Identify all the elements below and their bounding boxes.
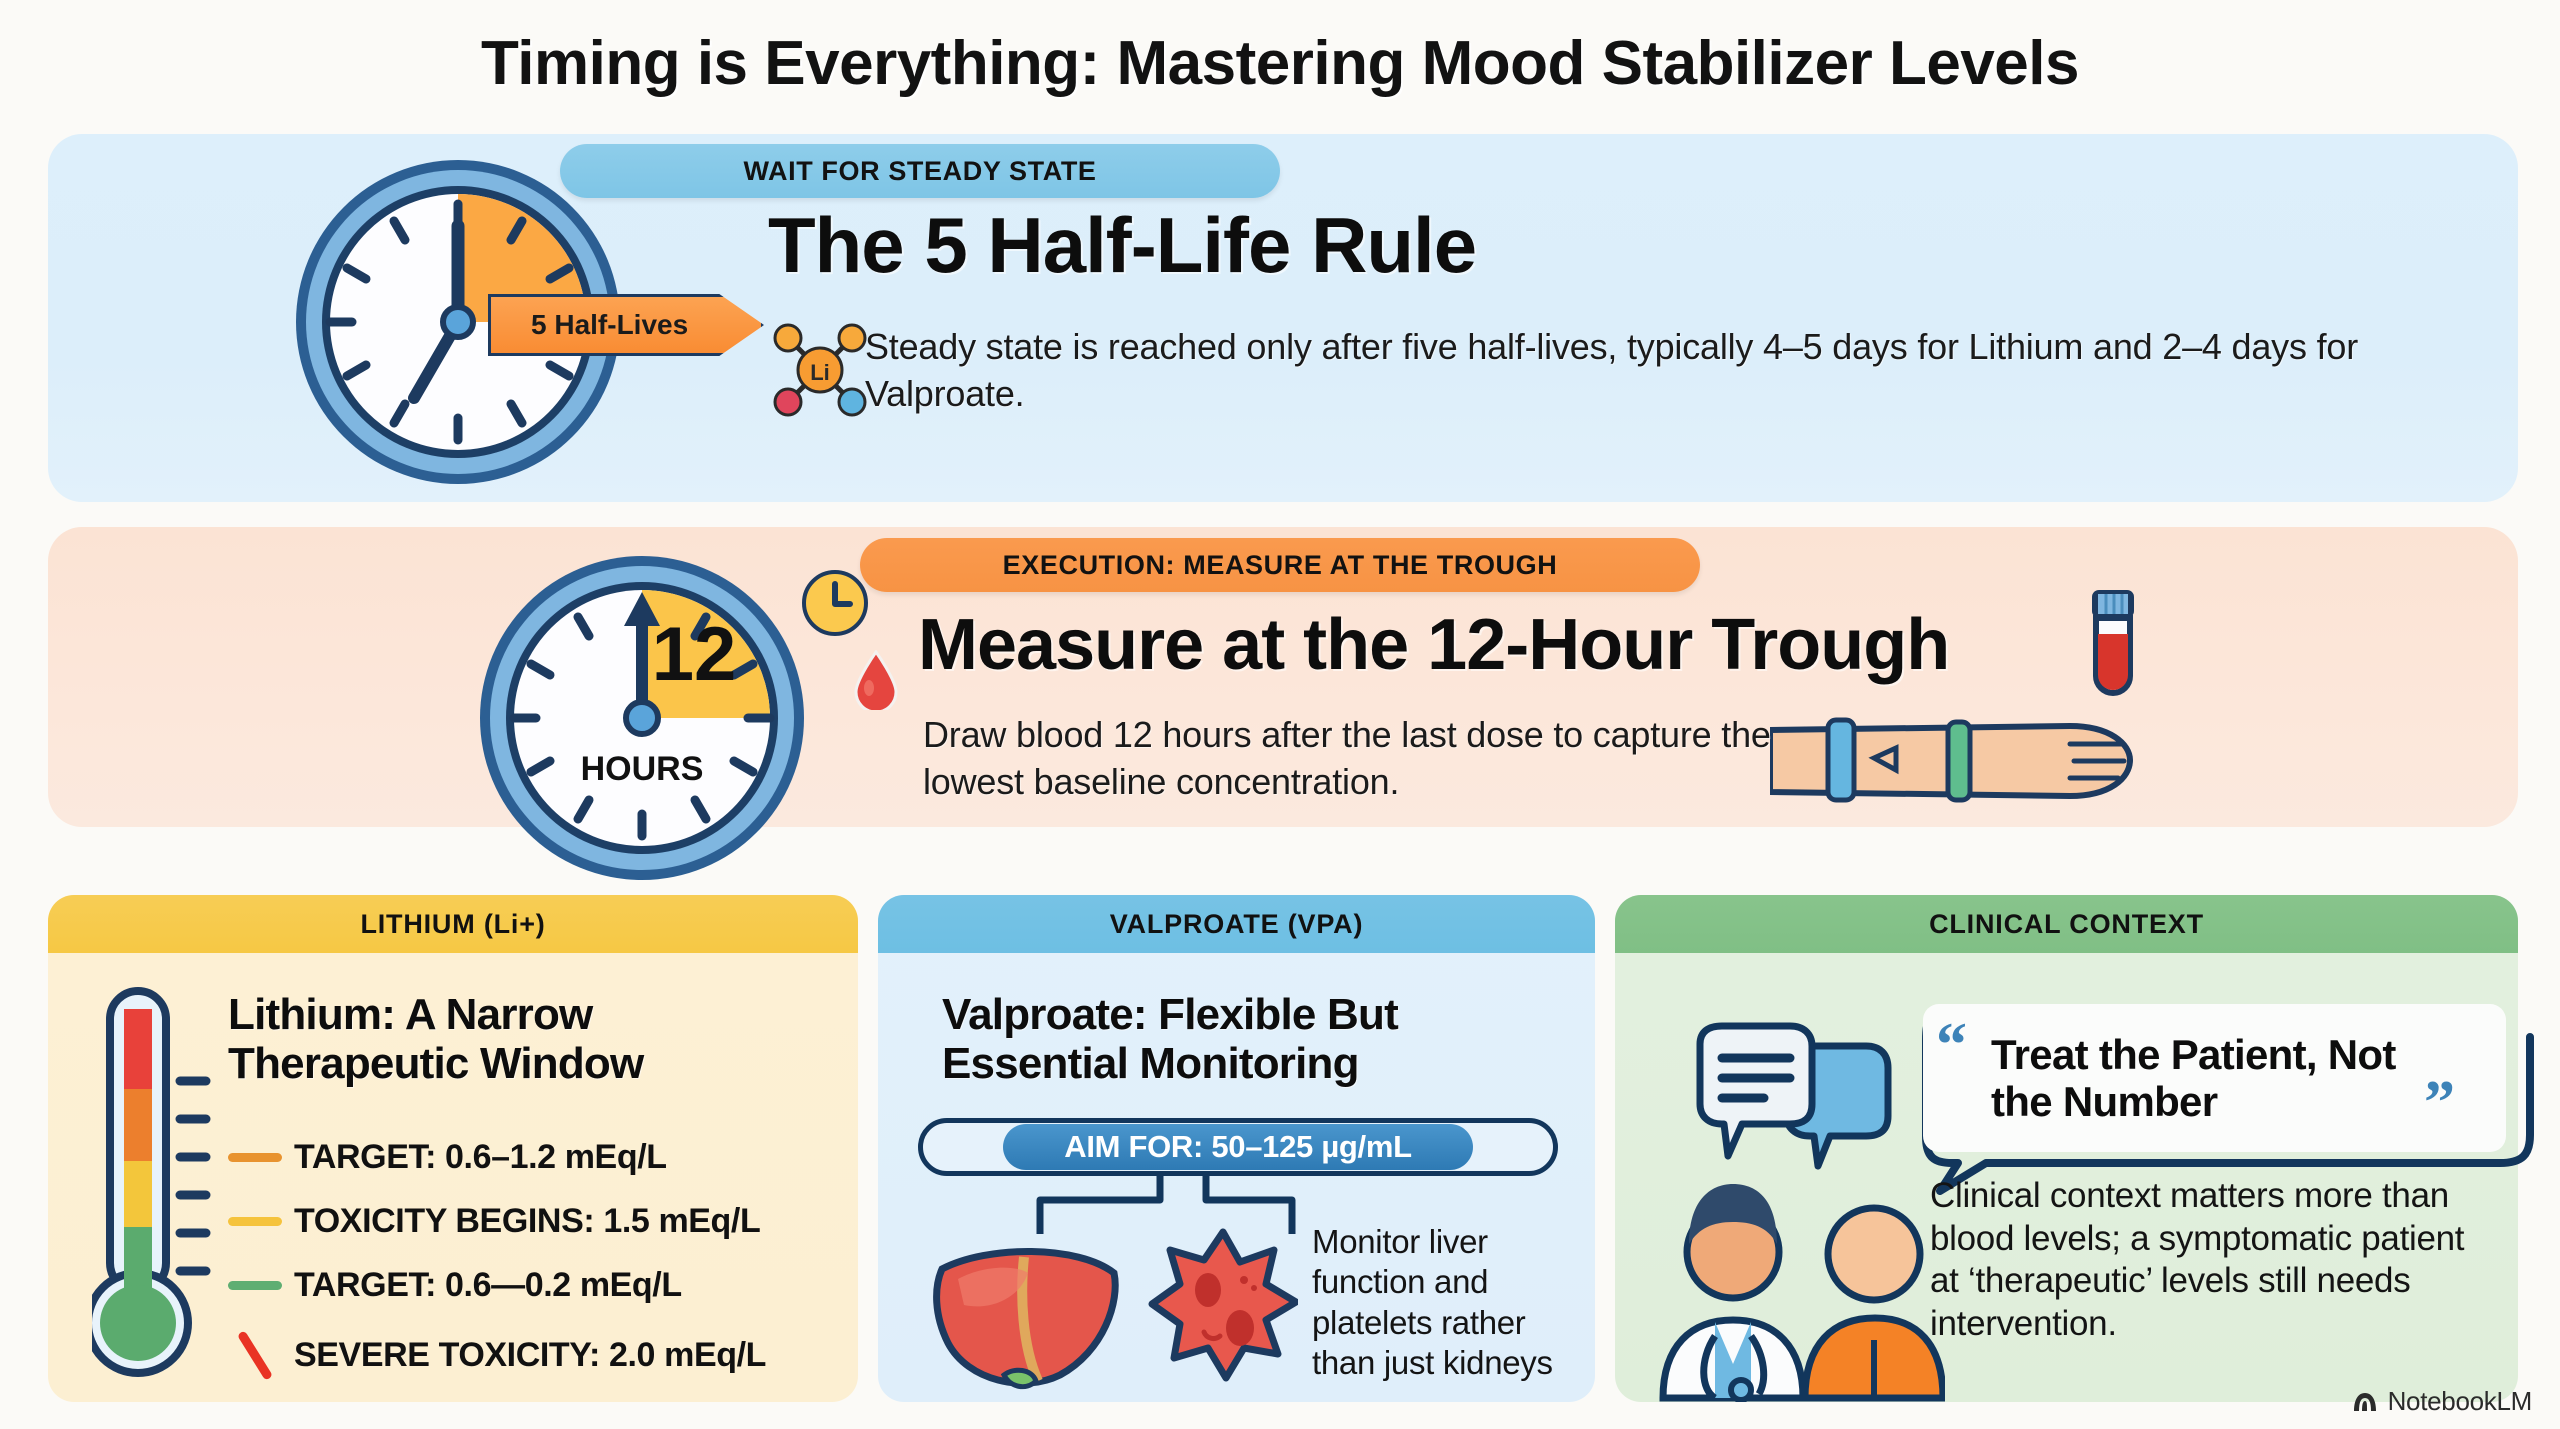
level-dash-toxicity-begins (228, 1217, 282, 1226)
list-item: TARGET: 0.6–1.2 mEq/L (228, 1125, 848, 1189)
blood-drop-icon (852, 650, 900, 710)
blood-tube-icon (2080, 588, 2146, 696)
list-item: SEVERE TOXICITY: 2.0 mEq/L (228, 1323, 848, 1387)
quote-close-icon: ” (2424, 1068, 2455, 1139)
list-item: TARGET: 0.6—0.2 mEq/L (228, 1253, 848, 1317)
notebooklm-logo-icon (2352, 1390, 2378, 1414)
list-item: TOXICITY BEGINS: 1.5 mEq/L (228, 1189, 848, 1253)
clock-unit: HOURS (581, 750, 704, 788)
heading-lithium-narrow-window: Lithium: A Narrow Therapeutic Window (228, 990, 828, 1089)
lithium-target-label: TARGET: 0.6–1.2 mEq/L (294, 1138, 667, 1177)
quote-open-icon: “ (1936, 1010, 1967, 1081)
lithium-level-list: TARGET: 0.6–1.2 mEq/L TOXICITY BEGINS: 1… (228, 1125, 848, 1387)
card-lithium-header: LITHIUM (Li+) (48, 895, 858, 953)
doctor-and-patient-icon (1655, 1140, 1945, 1402)
five-half-lives-arrow-label: 5 Half-Lives (488, 294, 764, 356)
clinical-context-note: Clinical context matters more than blood… (1930, 1175, 2490, 1346)
svg-text:Li: Li (810, 360, 830, 385)
small-clock-badge-icon (800, 568, 870, 638)
valproate-monitoring-note: Monitor liver function and platelets rat… (1312, 1222, 1588, 1383)
heading-measure-12-hour-trough: Measure at the 12-Hour Trough (918, 608, 1949, 684)
card-valproate-header: VALPROATE (VPA) (878, 895, 1595, 953)
heading-valproate-monitoring: Valproate: Flexible But Essential Monito… (942, 990, 1582, 1089)
lithium-severe-toxicity-label: SEVERE TOXICITY: 2.0 mEq/L (294, 1336, 766, 1375)
infographic-root: Timing is Everything: Mastering Mood Sta… (0, 0, 2560, 1429)
lithium-target-low-label: TARGET: 0.6—0.2 mEq/L (294, 1266, 682, 1305)
lithium-molecule-icon: Li (768, 318, 872, 422)
valproate-target-range-value: AIM FOR: 50–125 µg/mL (1003, 1124, 1473, 1170)
level-dash-severe-toxicity (237, 1330, 273, 1381)
badge-execution-measure-at-trough: EXECUTION: MEASURE AT THE TROUGH (860, 538, 1700, 592)
page-title: Timing is Everything: Mastering Mood Sta… (0, 28, 2560, 99)
thermometer-icon (92, 985, 242, 1385)
badge-wait-for-steady-state: WAIT FOR STEADY STATE (560, 144, 1280, 198)
level-dash-target-low (228, 1281, 282, 1290)
notebooklm-watermark: NotebookLM (2352, 1386, 2532, 1417)
quote-box: Treat the Patient, Not the Number (1923, 1004, 2506, 1152)
valproate-target-range-pill: AIM FOR: 50–125 µg/mL (918, 1118, 1558, 1176)
watermark-label: NotebookLM (2388, 1386, 2532, 1417)
card-clinical-header: CLINICAL CONTEXT (1615, 895, 2518, 953)
level-dash-target (228, 1153, 282, 1162)
liver-icon (928, 1235, 1128, 1395)
heading-five-half-life-rule: The 5 Half-Life Rule (768, 205, 1476, 287)
quote-text: Treat the Patient, Not the Number (1923, 1031, 2506, 1125)
clock-twelve-hours-icon: 12 HOURS (472, 548, 812, 888)
body-measure-trough: Draw blood 12 hours after the last dose … (923, 712, 1803, 806)
clock-number: 12 (652, 612, 737, 697)
body-steady-state: Steady state is reached only after five … (865, 324, 2365, 418)
lithium-toxicity-begins-label: TOXICITY BEGINS: 1.5 mEq/L (294, 1202, 760, 1241)
platelet-icon (1148, 1228, 1298, 1383)
arm-with-tourniquet-icon (1770, 700, 2170, 820)
